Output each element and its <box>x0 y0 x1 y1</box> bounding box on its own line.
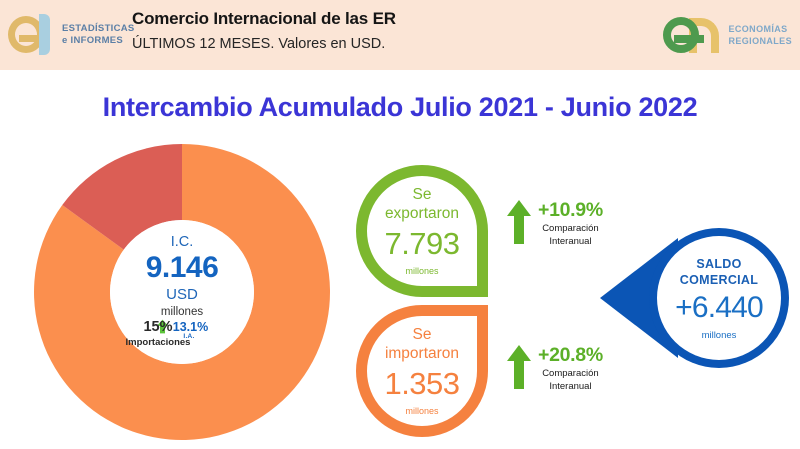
logo-right-line1: ECONOMÍAS <box>728 23 792 35</box>
logo-left-line1: ESTADÍSTICAS <box>62 23 135 35</box>
logo-right-line2: REGIONALES <box>728 35 792 47</box>
card-exportaciones-value: 7.793 <box>363 225 481 263</box>
saldo-comercial-callout: SALDO COMERCIAL +6.440 millones <box>600 218 800 378</box>
header-bar: ESTADÍSTICAS e INFORMES Comercio Interna… <box>0 0 800 70</box>
card-exportaciones: Se exportaron 7.793 millones <box>356 165 488 297</box>
page-title: Intercambio Acumulado Julio 2021 - Junio… <box>0 92 800 123</box>
card-exportaciones-title-line2: exportaron <box>363 204 481 223</box>
card-importaciones-unit: millones <box>363 405 481 417</box>
comparison-importaciones-note2: Interanual <box>538 380 603 393</box>
card-importaciones: Se importaron 1.353 millones <box>356 305 488 437</box>
saldo-comercial-body: SALDO COMERCIAL +6.440 millones <box>655 240 783 358</box>
card-exportaciones-body: Se exportaron 7.793 millones <box>363 185 481 277</box>
document-subtitle: ÚLTIMOS 12 MESES. Valores en USD. <box>132 33 396 55</box>
comparison-importaciones-text: +20.8% Comparación Interanual <box>538 343 603 393</box>
comparison-importaciones-pct: +20.8% <box>538 343 603 367</box>
estadisticas-informes-logo: ESTADÍSTICAS e INFORMES <box>8 12 128 58</box>
importaciones-pct: 15% <box>110 318 206 336</box>
card-importaciones-title-line2: importaron <box>363 344 481 363</box>
saldo-value: +6.440 <box>675 290 763 326</box>
logo-left-text: ESTADÍSTICAS e INFORMES <box>62 23 135 47</box>
ei-logo-icon <box>8 14 56 56</box>
comparison-exportaciones-note2: Interanual <box>538 235 603 248</box>
card-exportaciones-title-line1: Se <box>363 185 481 204</box>
ic-currency: USD <box>166 285 198 305</box>
card-exportaciones-unit: millones <box>363 265 481 277</box>
infographic-page: ESTADÍSTICAS e INFORMES Comercio Interna… <box>0 0 800 449</box>
saldo-title-line2: COMERCIAL <box>680 272 758 288</box>
comparison-importaciones: +20.8% Comparación Interanual <box>506 343 603 393</box>
document-title: Comercio Internacional de las ER <box>132 8 396 30</box>
logo-left-line2: e INFORMES <box>62 35 135 47</box>
donut-chart: I.C. 9.146 USD millones 13.1% I.A. 15% I… <box>32 142 337 442</box>
card-importaciones-title-line1: Se <box>363 325 481 344</box>
er-logo-icon <box>663 15 723 55</box>
economias-regionales-logo: ECONOMÍAS REGIONALES <box>663 12 792 58</box>
saldo-title-line1: SALDO <box>696 256 741 272</box>
comparison-exportaciones-pct: +10.9% <box>538 198 603 222</box>
importaciones-name: Importaciones <box>110 336 206 349</box>
comparison-exportaciones-text: +10.9% Comparación Interanual <box>538 198 603 248</box>
card-importaciones-body: Se importaron 1.353 millones <box>363 325 481 417</box>
comparison-exportaciones-note1: Comparación <box>538 222 603 235</box>
ic-label: I.C. <box>171 234 194 251</box>
title-block: Comercio Internacional de las ER ÚLTIMOS… <box>132 8 396 55</box>
ic-value: 9.146 <box>146 251 219 285</box>
logo-right-text: ECONOMÍAS REGIONALES <box>728 23 792 47</box>
donut-label-importaciones: 15% Importaciones <box>110 318 206 349</box>
comparison-importaciones-note1: Comparación <box>538 367 603 380</box>
comparison-exportaciones: +10.9% Comparación Interanual <box>506 198 603 248</box>
letter-i-icon <box>39 14 50 55</box>
arrow-up-icon <box>506 344 532 390</box>
saldo-unit: millones <box>702 329 737 342</box>
card-importaciones-value: 1.353 <box>363 365 481 403</box>
arrow-up-icon <box>506 199 532 245</box>
